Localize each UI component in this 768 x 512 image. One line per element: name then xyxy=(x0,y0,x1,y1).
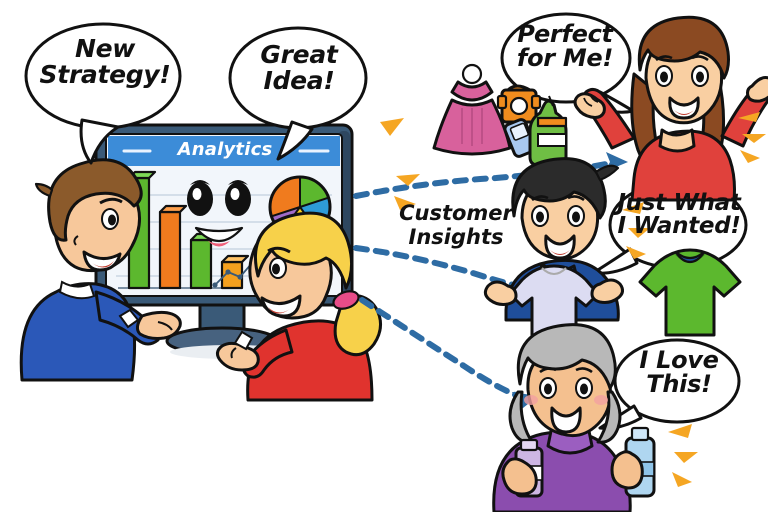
customer-insights-label: Customer Insights xyxy=(388,202,524,249)
screen-title-analytics: Analytics xyxy=(150,139,300,160)
speech-text-just-what-i-wanted: Just What I Wanted! xyxy=(615,192,743,239)
illustration-canvas: .ol{stroke:#111;stroke-width:3;stroke-li… xyxy=(0,0,768,512)
sparks-older-woman xyxy=(668,424,698,487)
character-customer-young-man xyxy=(485,159,622,342)
speech-text-i-love-this: I Love This! xyxy=(624,348,734,397)
product-pink-dress xyxy=(434,65,510,154)
speech-text-perfect-for-me: Perfect for Me! xyxy=(503,22,627,71)
speech-text-new-strategy: New Strategy! xyxy=(30,36,180,87)
speech-text-great-idea: Great Idea! xyxy=(240,42,358,93)
